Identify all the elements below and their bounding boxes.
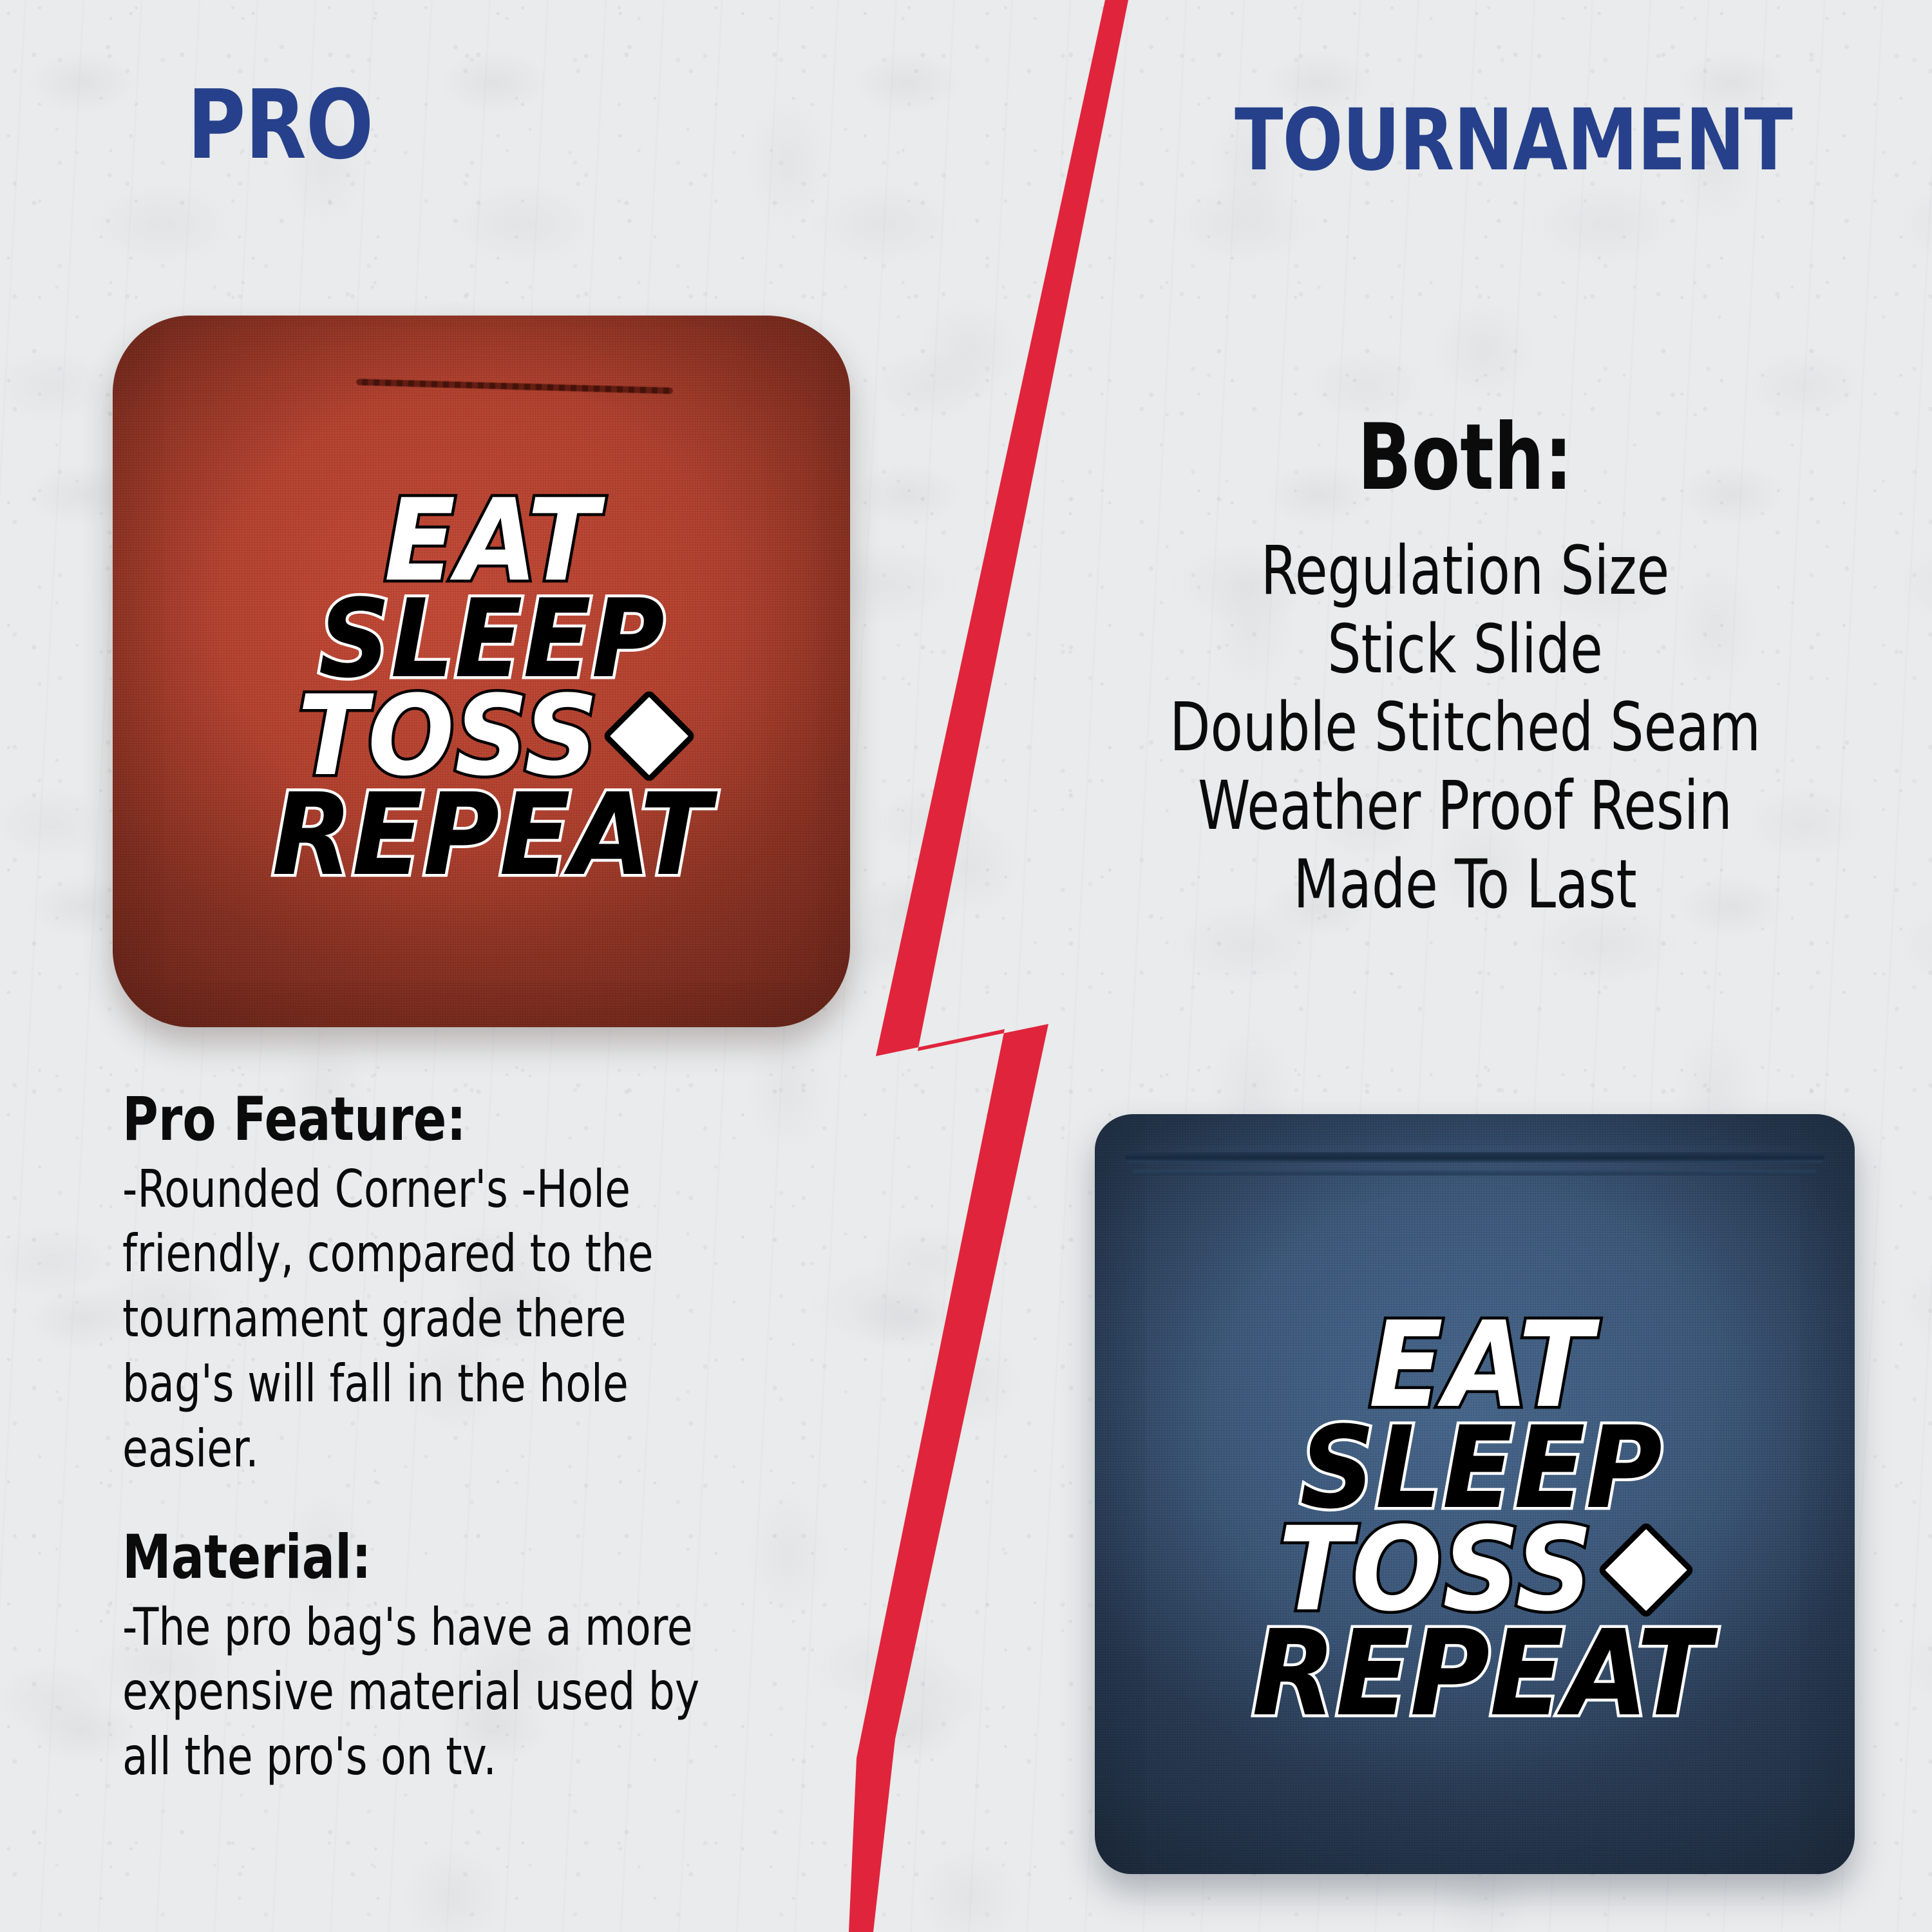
infographic-canvas: PRO EAT SLEEP TOSS REPEAT Pro Feature: -… (0, 0, 1932, 1932)
material-title: Material: (122, 1526, 708, 1590)
pro-feature-body: -Rounded Corner's -Hole friendly, compar… (122, 1157, 708, 1482)
pro-bag-shading (113, 316, 850, 1027)
material-body: -The pro bag's have a more expensive mat… (122, 1595, 708, 1790)
both-feature-item: Weather Proof Resin (1088, 767, 1842, 846)
both-features-section: Both: Regulation Size Stick Slide Double… (1037, 412, 1893, 923)
pro-feature-section: Pro Feature: -Rounded Corner's -Hole fri… (122, 1088, 773, 1482)
both-feature-item: Double Stitched Seam (1088, 688, 1842, 767)
tournament-bag-stitched-seam-secondary (1133, 1170, 1817, 1175)
pro-feature-title: Pro Feature: (122, 1088, 708, 1152)
tournament-bag-stitched-seam (1125, 1152, 1824, 1162)
tournament-bag-shading (1095, 1114, 1855, 1874)
tournament-bag-fabric (1095, 1114, 1855, 1874)
page-title-pro: PRO (19, 77, 540, 173)
pro-bag-image: EAT SLEEP TOSS REPEAT (113, 316, 850, 1027)
both-feature-item: Made To Last (1088, 846, 1842, 924)
pro-bag-fabric (113, 316, 850, 1027)
both-title: Both: (1097, 412, 1833, 504)
both-feature-item: Regulation Size (1088, 532, 1842, 611)
material-section: Material: -The pro bag's have a more exp… (122, 1526, 773, 1790)
page-title-tournament: TOURNAMENT (1136, 98, 1891, 183)
both-feature-item: Stick Slide (1088, 611, 1842, 689)
tournament-bag-image: EAT SLEEP TOSS REPEAT (1095, 1114, 1855, 1874)
